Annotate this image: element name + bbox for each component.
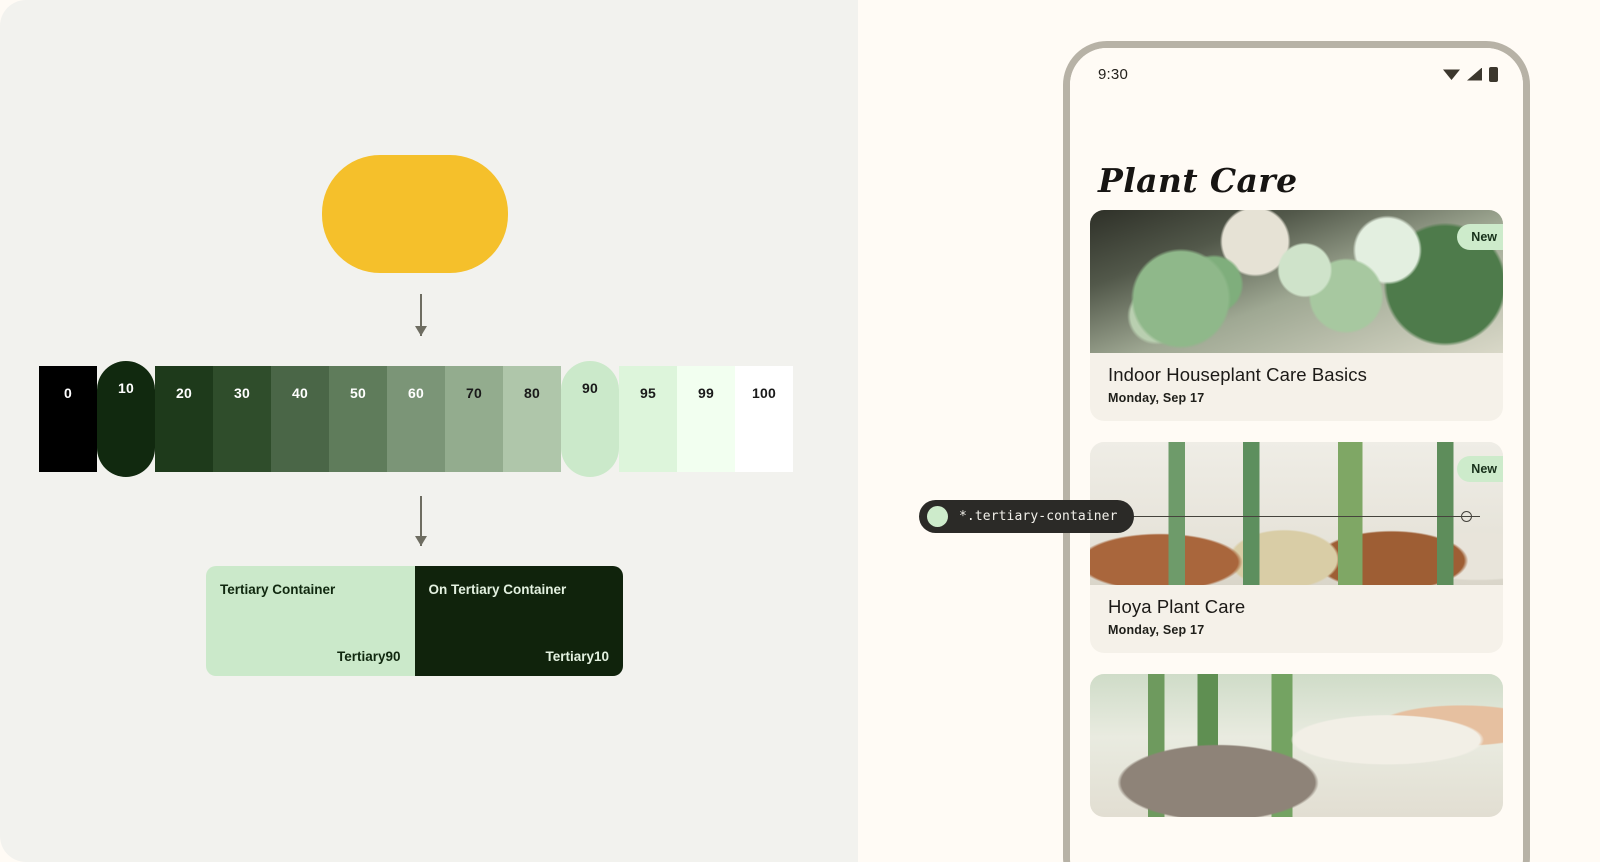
card-photo	[1090, 442, 1503, 585]
tone-label: 70	[466, 385, 482, 401]
new-badge[interactable]: New	[1457, 224, 1503, 250]
tertiary-container-tone-label: Tertiary90	[337, 649, 401, 664]
tone-swatch-50[interactable]: 50	[329, 366, 387, 472]
phone-mockup: 9:30 Plant Care NewIndoor Houseplant Car…	[1063, 41, 1530, 862]
tone-label: 100	[752, 385, 776, 401]
battery-icon	[1489, 67, 1498, 82]
card-date: Monday, Sep 17	[1108, 623, 1485, 637]
tonal-palette[interactable]: 01020304050607080909599100	[39, 361, 789, 477]
card[interactable]: NewIndoor Houseplant Care BasicsMonday, …	[1090, 210, 1503, 421]
new-badge[interactable]: New	[1457, 456, 1503, 482]
card-body: Hoya Plant CareMonday, Sep 17	[1090, 585, 1503, 653]
tone-label: 50	[350, 385, 366, 401]
tone-swatch-95[interactable]: 95	[619, 366, 677, 472]
tone-swatch-90[interactable]: 90	[561, 361, 619, 477]
card-photo	[1090, 210, 1503, 353]
phone-screen: 9:30 Plant Care NewIndoor Houseplant Car…	[1070, 48, 1523, 862]
card-title: Hoya Plant Care	[1108, 596, 1485, 618]
tone-swatch-70[interactable]: 70	[445, 366, 503, 472]
tone-label: 80	[524, 385, 540, 401]
annotation-handle[interactable]	[1461, 511, 1472, 522]
preview-panel: 9:30 Plant Care NewIndoor Houseplant Car…	[858, 0, 1600, 862]
card-image: New	[1090, 442, 1503, 585]
tone-swatch-99[interactable]: 99	[677, 366, 735, 472]
tone-swatch-10[interactable]: 10	[97, 361, 155, 477]
wifi-icon	[1443, 68, 1460, 80]
arrow-down-icon-2	[414, 496, 428, 546]
token-color-dot	[927, 506, 948, 527]
tone-label: 95	[640, 385, 656, 401]
tertiary-container-cell[interactable]: Tertiary Container Tertiary90	[206, 566, 415, 676]
tone-swatch-80[interactable]: 80	[503, 366, 561, 472]
status-icons	[1443, 67, 1498, 82]
arrow-head	[415, 326, 427, 336]
card-photo	[1090, 674, 1503, 817]
on-tertiary-container-tone-label: Tertiary10	[545, 649, 609, 664]
card-list[interactable]: NewIndoor Houseplant Care BasicsMonday, …	[1070, 210, 1523, 862]
tone-swatch-0[interactable]: 0	[39, 366, 97, 472]
card-image	[1090, 674, 1503, 817]
tone-swatch-60[interactable]: 60	[387, 366, 445, 472]
tone-label: 0	[64, 385, 72, 401]
tone-swatch-40[interactable]: 40	[271, 366, 329, 472]
card[interactable]	[1090, 674, 1503, 817]
card-body: Indoor Houseplant Care BasicsMonday, Sep…	[1090, 353, 1503, 421]
token-tooltip[interactable]: *.tertiary-container	[919, 500, 1134, 533]
status-bar: 9:30	[1070, 48, 1523, 100]
tone-label: 40	[292, 385, 308, 401]
token-name: *.tertiary-container	[959, 509, 1118, 524]
tone-swatch-20[interactable]: 20	[155, 366, 213, 472]
on-tertiary-container-role-label: On Tertiary Container	[429, 582, 610, 597]
page-title: Plant Care	[1098, 161, 1298, 200]
arrow-down-icon-1	[414, 294, 428, 336]
card-image: New	[1090, 210, 1503, 353]
tone-label: 30	[234, 385, 250, 401]
tone-label: 90	[582, 380, 598, 396]
tone-label: 99	[698, 385, 714, 401]
on-tertiary-container-cell[interactable]: On Tertiary Container Tertiary10	[415, 566, 624, 676]
tertiary-container-role-label: Tertiary Container	[220, 582, 401, 597]
status-time: 9:30	[1098, 66, 1128, 83]
source-color-swatch[interactable]	[322, 155, 508, 273]
card[interactable]: NewHoya Plant CareMonday, Sep 17	[1090, 442, 1503, 653]
tone-swatch-100[interactable]: 100	[735, 366, 793, 472]
screenshot-root: 01020304050607080909599100 Tertiary Cont…	[0, 0, 1600, 862]
card-title: Indoor Houseplant Care Basics	[1108, 364, 1485, 386]
palette-panel: 01020304050607080909599100 Tertiary Cont…	[0, 0, 858, 862]
arrow-head	[415, 536, 427, 546]
tone-swatch-30[interactable]: 30	[213, 366, 271, 472]
tone-label: 20	[176, 385, 192, 401]
signal-icon	[1467, 68, 1482, 81]
card-date: Monday, Sep 17	[1108, 391, 1485, 405]
tone-label: 60	[408, 385, 424, 401]
tone-label: 10	[118, 380, 134, 396]
role-pair: Tertiary Container Tertiary90 On Tertiar…	[206, 566, 623, 676]
